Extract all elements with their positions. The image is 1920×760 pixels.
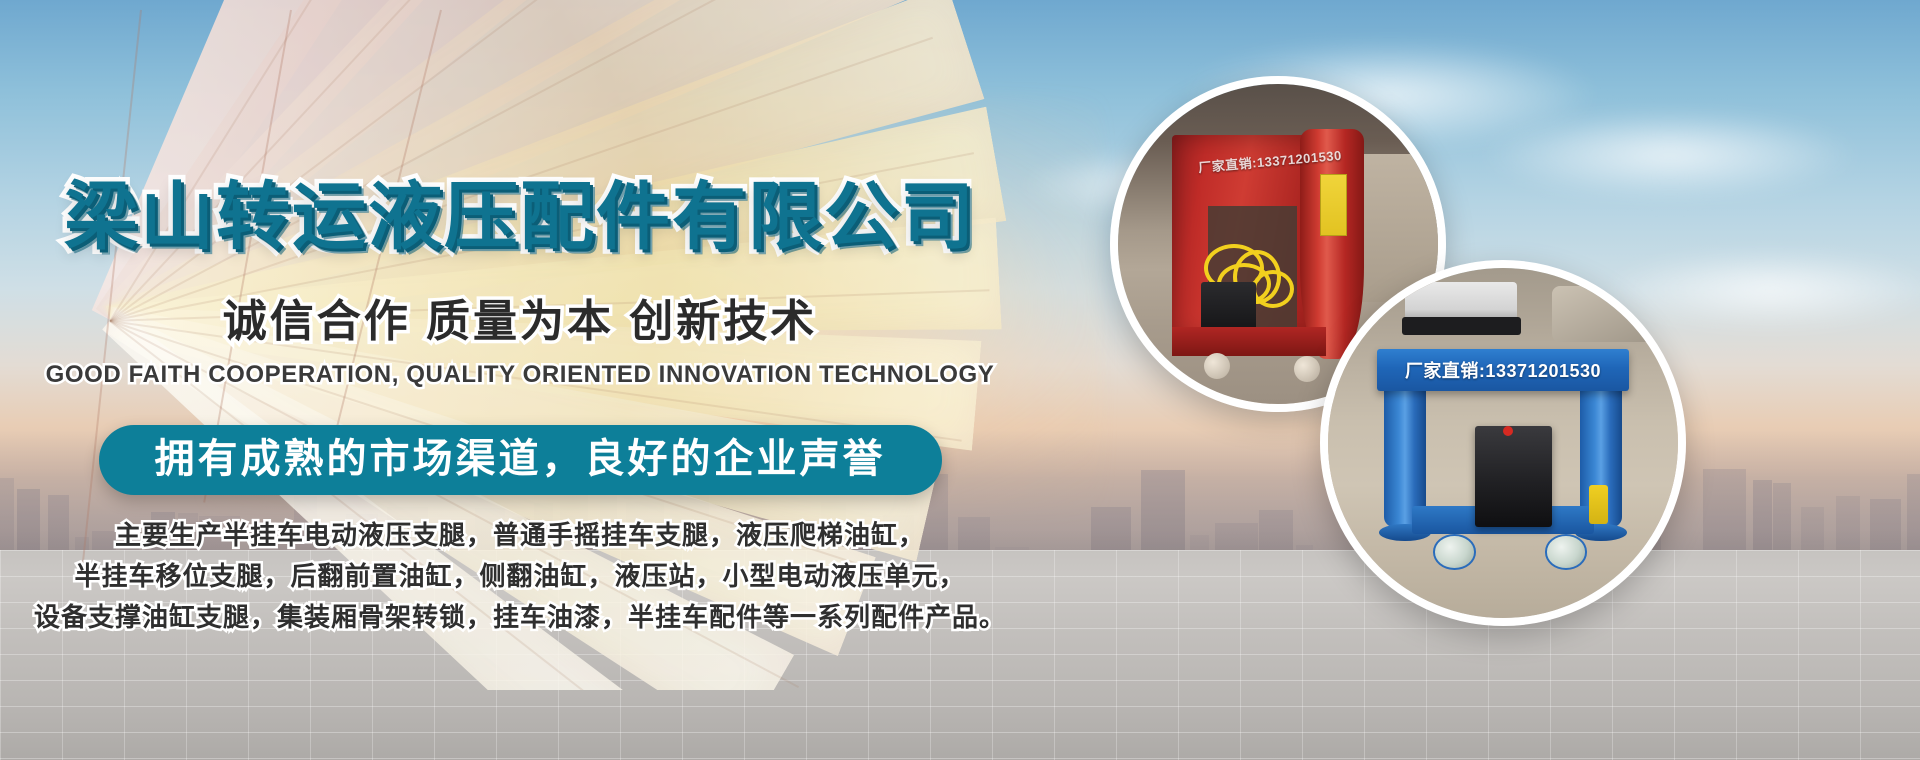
caster-wheel <box>1294 356 1320 382</box>
hydraulic-power-unit <box>1475 426 1552 528</box>
description-line: 主要生产半挂车电动液压支腿，普通手摇挂车支腿，液压爬梯油缸， <box>0 515 1040 556</box>
pendant-remote-control <box>1589 485 1608 524</box>
blue-machine-caption: 厂家直销:13371201530 <box>1377 357 1629 383</box>
yellow-hose <box>1252 270 1294 308</box>
truck-bumper <box>1402 317 1521 335</box>
description-line: 设备支撑油缸支腿，集装厢骨架转锁，挂车油漆，半挂车配件等一系列配件产品。 <box>0 597 1040 638</box>
blue-machine-scene: 厂家直销:13371201530 <box>1328 268 1678 618</box>
description-block: 主要生产半挂车电动液压支腿，普通手摇挂车支腿，液压爬梯油缸， 半挂车移位支腿，后… <box>0 515 1040 638</box>
caster-wheel <box>1433 534 1476 570</box>
caster-wheel <box>1545 534 1588 570</box>
product-photo-blue: 厂家直销:13371201530 <box>1320 260 1686 626</box>
hero-banner: 梁山转运液压配件有限公司 诚信合作 质量为本 创新技术 GOOD FAITH C… <box>0 0 1920 760</box>
red-machine-base <box>1172 327 1326 356</box>
slogan-chinese: 诚信合作 质量为本 创新技术 <box>0 300 1040 344</box>
spec-label <box>1320 174 1348 237</box>
emergency-stop-button <box>1503 426 1513 436</box>
description-line: 半挂车移位支腿，后翻前置油缸，侧翻油缸，液压站，小型电动液压单元， <box>0 556 1040 597</box>
highlight-pill: 拥有成熟的市场渠道，良好的企业声誉 <box>99 425 942 495</box>
slogan-english: GOOD FAITH COOPERATION, QUALITY ORIENTED… <box>0 363 1040 387</box>
electric-motor <box>1201 282 1255 333</box>
caster-wheel <box>1204 353 1230 379</box>
highlight-pill-wrap: 拥有成熟的市场渠道，良好的企业声誉 <box>0 425 1040 495</box>
cloud-shape <box>1480 110 1860 200</box>
company-title: 梁山转运液压配件有限公司 <box>0 180 1040 254</box>
yard-debris <box>1552 286 1671 342</box>
